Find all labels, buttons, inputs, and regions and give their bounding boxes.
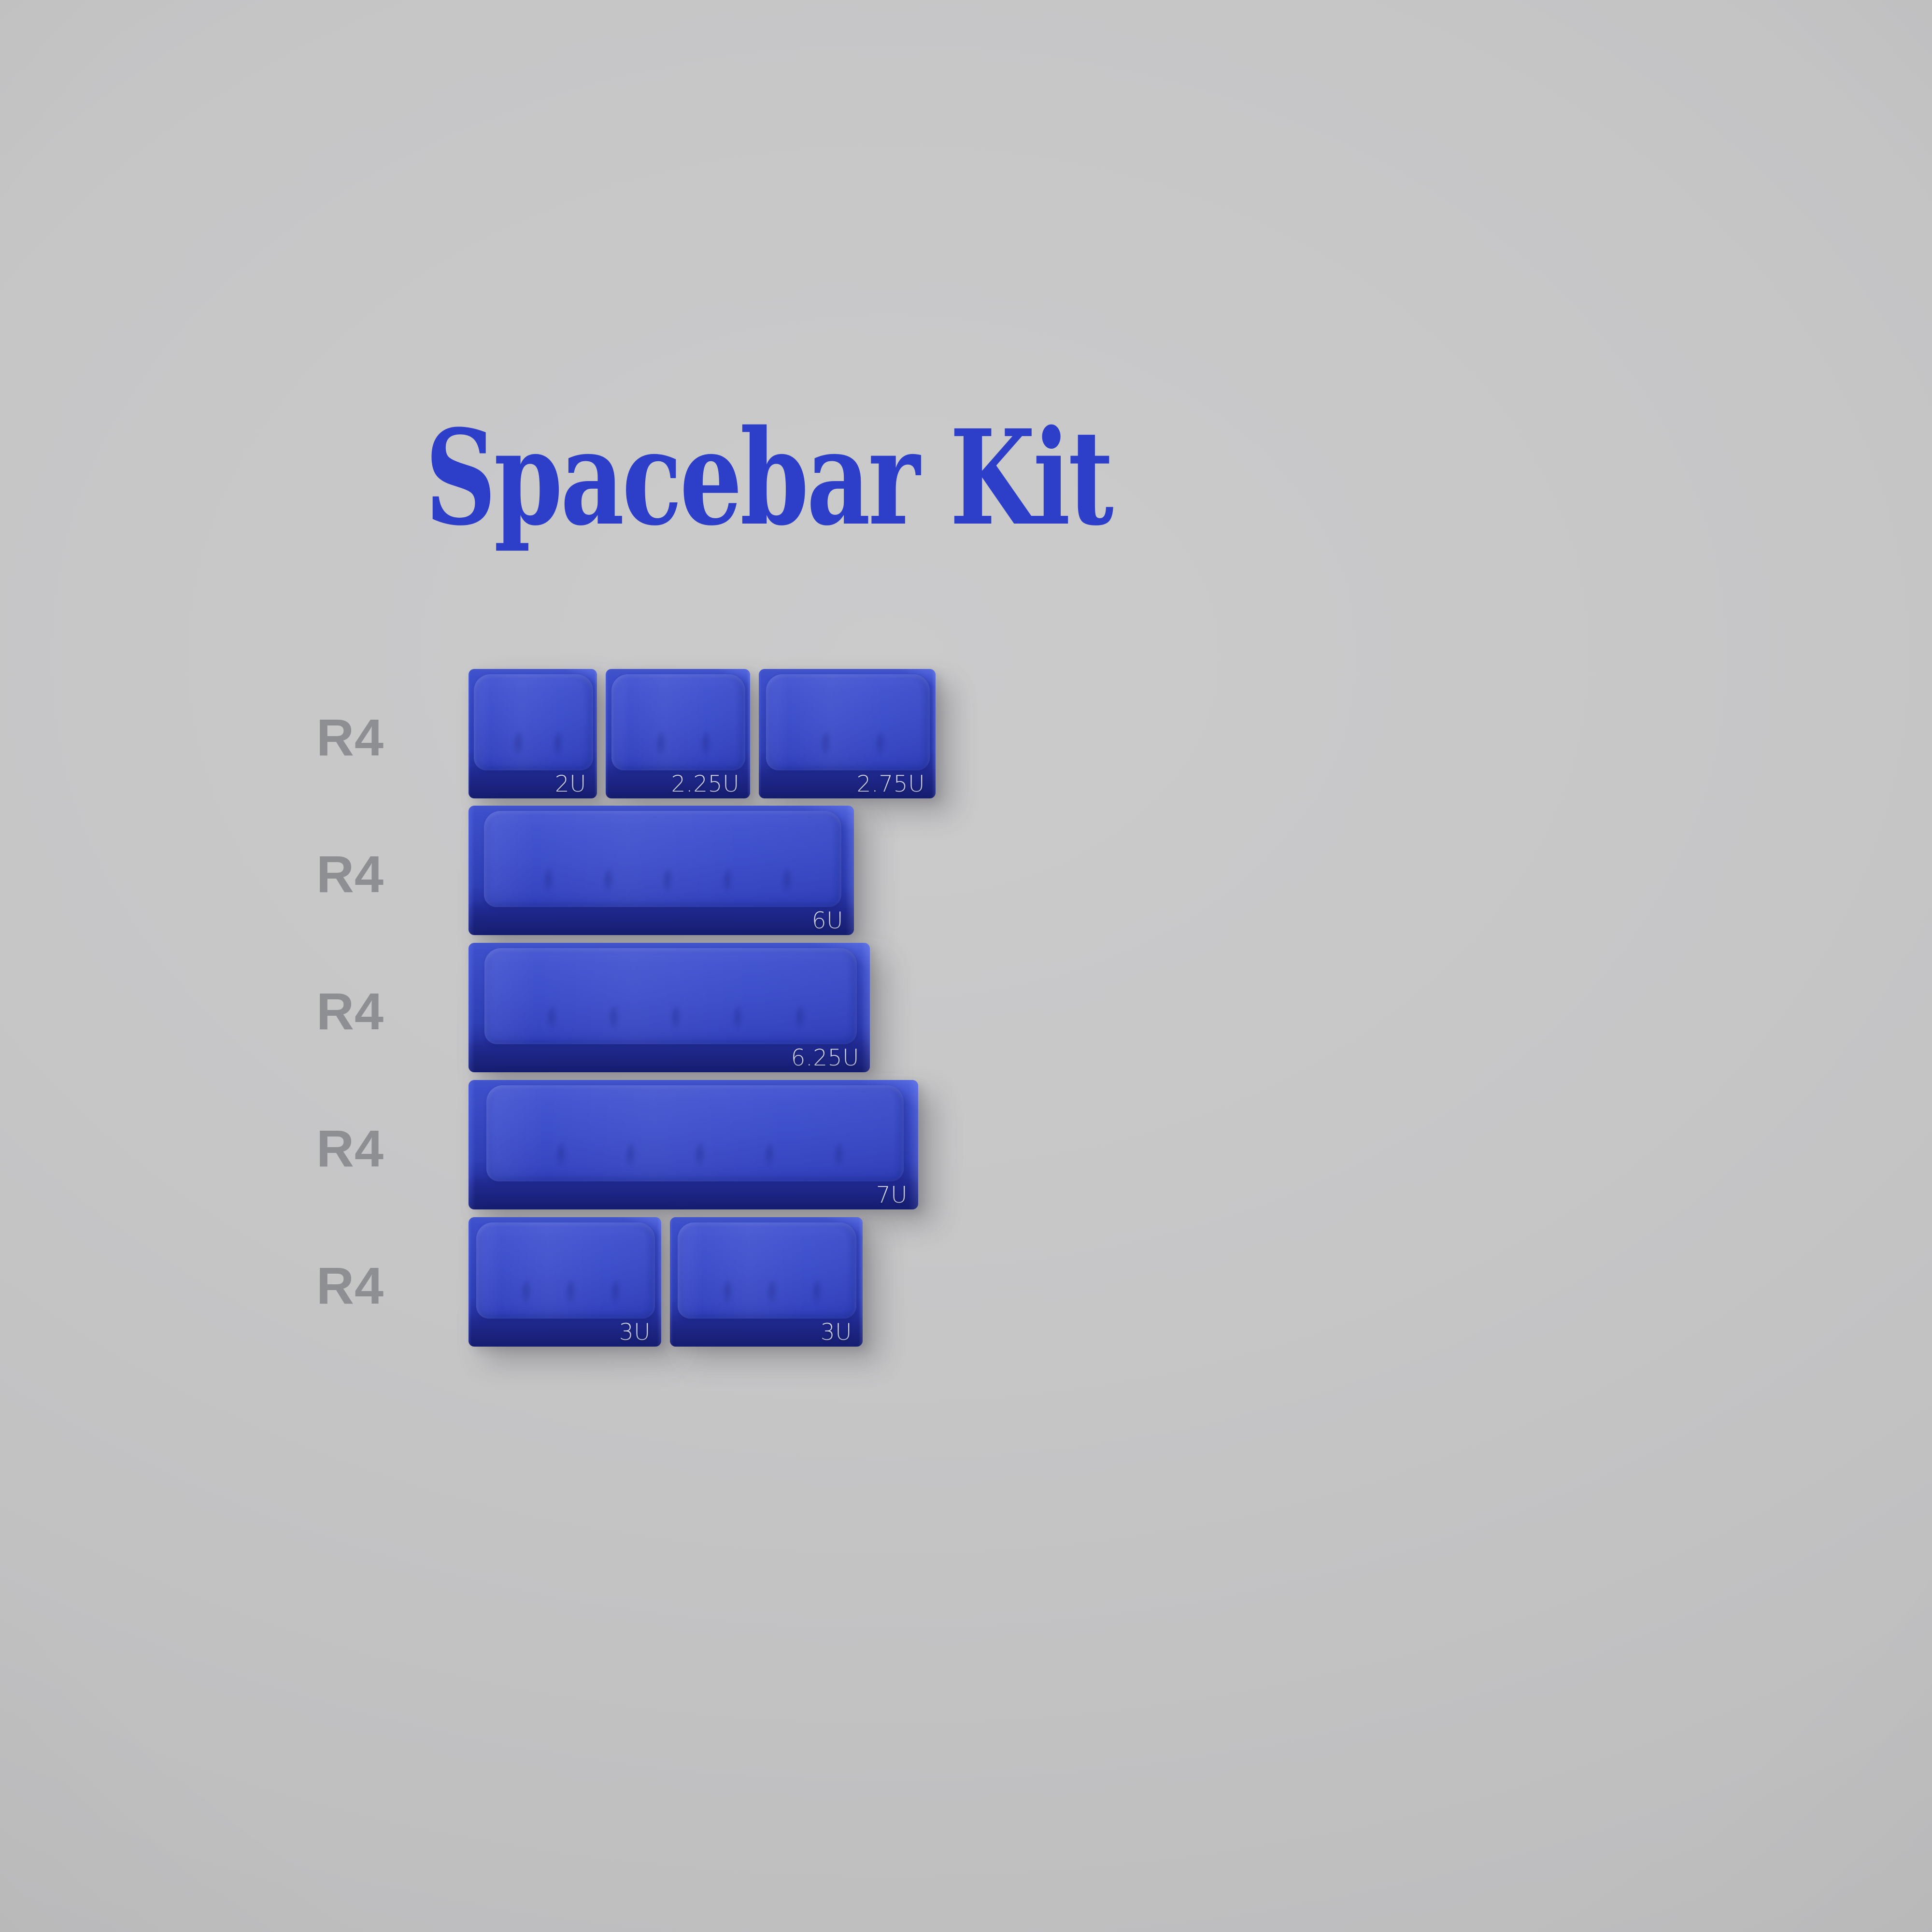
keycap-top-surface [474,674,593,770]
keycap-size-label: 6U [812,909,843,932]
keycap-top-surface [486,1085,904,1181]
keycap-3u[interactable]: 3U [670,1217,863,1347]
row-profile-label-r5: R4 [316,1260,384,1312]
keycap-6-25u[interactable]: 6.25U [469,943,870,1072]
keycap-surface-dimple [553,732,566,762]
keycap-surface-dimple [556,1143,568,1173]
keycap-size-label: 3U [619,1321,651,1344]
keycap-2-75u[interactable]: 2.75U [759,669,936,798]
keycap-surface-dimple [875,732,888,762]
keycap-surface-dimple [723,868,735,898]
keycap-top-surface [476,1222,655,1319]
keycap-surface-dimple [603,868,616,898]
keycap-surface-dimple [566,1280,578,1310]
keycap-size-label: 2.75U [856,773,925,796]
keycap-surface-dimple [695,1143,708,1173]
keycap-size-label: 2.25U [671,773,739,796]
keycap-surface-dimple [723,1280,735,1310]
keycap-2-25u[interactable]: 2.25U [606,669,750,798]
keycap-7u[interactable]: 7U [469,1080,918,1209]
row-profile-label-r3: R4 [316,985,384,1037]
keycap-3u[interactable]: 3U [469,1217,661,1347]
keycap-top-surface [766,674,930,770]
row-profile-label-r1: R4 [316,711,384,764]
keycap-top-surface [678,1222,856,1319]
keycap-surface-dimple [733,1006,745,1036]
keycap-surface-dimple [812,1280,824,1310]
keycap-surface-dimple [543,868,556,898]
keycap-top-surface [611,674,745,770]
keycap-size-label: 7U [876,1184,908,1207]
keycap-surface-dimple [671,1006,683,1036]
keycap-surface-dimple [547,1006,559,1036]
keycap-top-surface [484,811,842,907]
keycap-surface-dimple [513,732,526,762]
keycap-surface-dimple [767,1280,780,1310]
keycap-surface-dimple [609,1006,621,1036]
keycap-surface-dimple [521,1280,534,1310]
keycap-size-label: 2U [555,773,586,796]
keycap-size-label: 3U [821,1321,852,1344]
keycap-surface-dimple [834,1143,847,1173]
keycap-surface-dimple [821,732,833,762]
backdrop-vignette [0,0,1932,1932]
keycap-size-label: 6.25U [791,1047,859,1069]
keycap-surface-dimple [782,868,795,898]
keycap-surface-dimple [663,868,675,898]
keycap-surface-dimple [701,732,713,762]
keycap-6u[interactable]: 6U [469,806,854,935]
keycap-top-surface [484,948,857,1044]
keycap-surface-dimple [611,1280,623,1310]
keycap-surface-dimple [656,732,668,762]
page-title: Spacebar Kit [425,413,1111,543]
row-profile-label-r4: R4 [316,1122,384,1175]
keycap-surface-dimple [625,1143,638,1173]
keycap-surface-dimple [795,1006,808,1036]
keycap-surface-dimple [765,1143,777,1173]
keycap-2u[interactable]: 2U [469,669,597,798]
row-profile-label-r2: R4 [316,848,384,900]
